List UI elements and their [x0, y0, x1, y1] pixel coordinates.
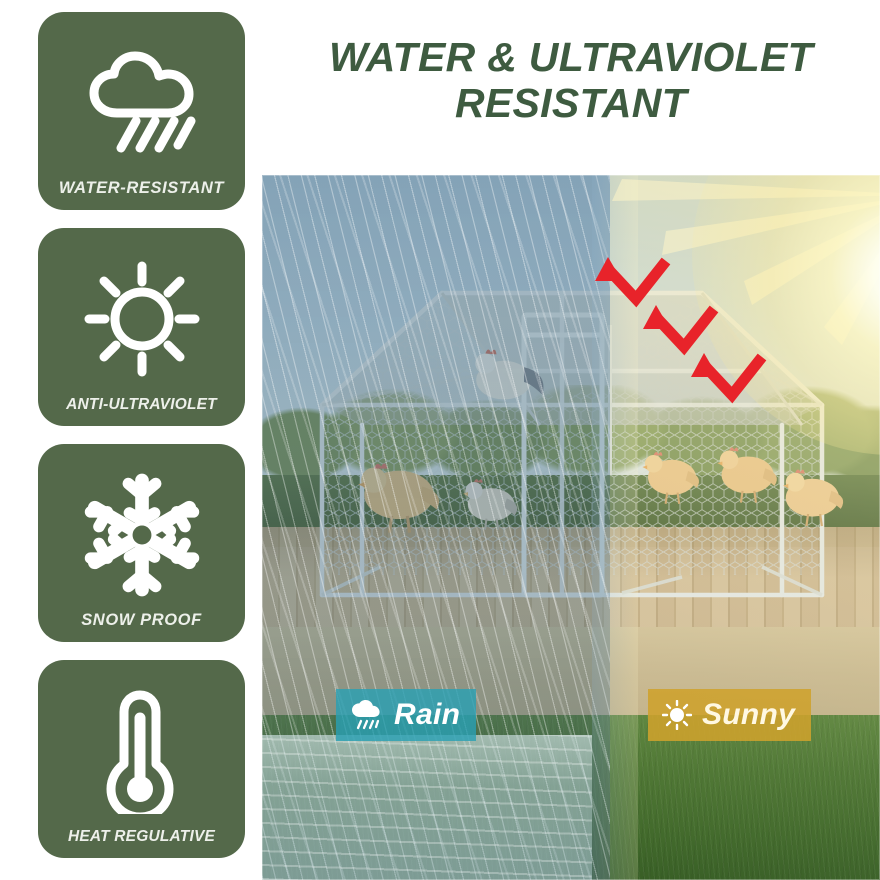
thermometer-icon — [38, 674, 245, 829]
page-title-line-1: WATER & ULTRAVIOLET — [262, 34, 880, 80]
sun-icon — [662, 700, 692, 730]
feature-badge-label: HEAT REGULATIVE — [38, 829, 245, 859]
rain-cloud-icon — [38, 26, 245, 180]
page-title: WATER & ULTRAVIOLET RESISTANT — [262, 34, 880, 127]
feature-badge-label: SNOW PROOF — [38, 612, 245, 643]
feature-badge-label: ANTI-ULTRAVIOLET — [38, 397, 245, 427]
weather-banner-sunny[interactable]: Sunny — [648, 689, 811, 741]
infographic-panel: WATER-RESISTANT — [0, 0, 880, 880]
weather-banner-label: Sunny — [702, 700, 795, 730]
feature-badge-snow-proof[interactable]: SNOW PROOF — [38, 444, 245, 642]
feature-badge-anti-ultraviolet[interactable]: ANTI-ULTRAVIOLET — [38, 228, 245, 426]
feature-badge-heat-regulative[interactable]: HEAT REGULATIVE — [38, 660, 245, 858]
page-title-line-2: RESISTANT — [262, 80, 880, 126]
feature-badge-column: WATER-RESISTANT — [38, 12, 245, 870]
snowflake-icon — [38, 458, 245, 612]
feature-badge-label: WATER-RESISTANT — [38, 180, 245, 211]
feature-badge-water-resistant[interactable]: WATER-RESISTANT — [38, 12, 245, 210]
rain-cloud-icon — [350, 700, 384, 730]
weather-banner-label: Rain — [394, 700, 460, 730]
water-ripples — [262, 735, 592, 880]
product-photo: Rain Sunny — [262, 175, 880, 880]
sun-icon — [38, 242, 245, 397]
weather-banner-rain[interactable]: Rain — [336, 689, 476, 741]
uv-bounce-arrows — [592, 255, 782, 415]
